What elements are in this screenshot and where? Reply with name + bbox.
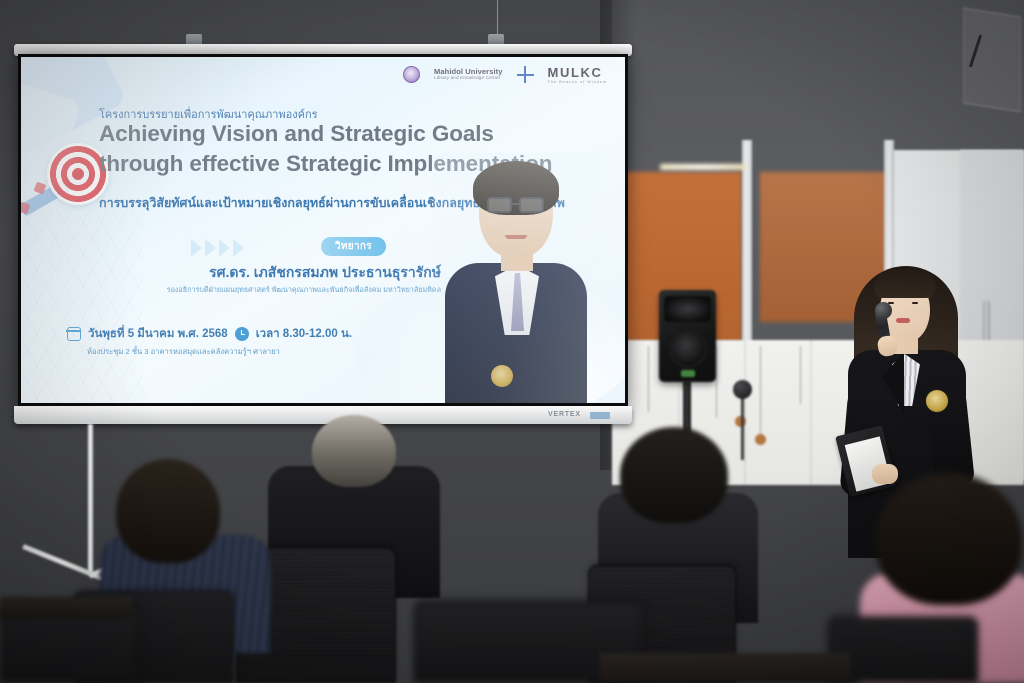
chevron-right-icon — [191, 239, 202, 257]
slide-title-en-line1: Achieving Vision and Strategic Goals — [99, 119, 609, 149]
desk-right — [600, 653, 850, 683]
chevron-decor — [191, 239, 244, 257]
hanging-dot-1 — [755, 434, 766, 445]
chevron-right-icon — [219, 239, 230, 257]
screen-brand-tag — [590, 412, 610, 419]
slide-time: เวลา 8.30-12.00 น. — [256, 325, 352, 343]
mulkc-tagline: The Beacon of Wisdom — [548, 80, 607, 84]
chevron-right-icon — [233, 239, 244, 257]
projection-screen: Mahidol University Library and Knowledge… — [18, 54, 628, 406]
slide-hex-pattern — [23, 207, 143, 403]
speaker-badge: วิทยากร — [321, 237, 386, 256]
calendar-icon — [67, 327, 81, 341]
screen-brand-label: VERTEX — [548, 411, 581, 418]
audience-head-mid-right — [620, 427, 728, 523]
hanging-line-3 — [716, 346, 717, 418]
mulkc-logo: MULKC The Beacon of Wisdom — [548, 66, 607, 84]
slide-date: วันพุธที่ 5 มีนาคม พ.ศ. 2568 — [88, 325, 228, 343]
mahidol-logo-text: Mahidol University Library and Knowledge… — [434, 68, 502, 81]
ceiling-light-strip — [660, 164, 746, 170]
screen-hanging-wire — [497, 0, 498, 36]
mahidol-subname: Library and Knowledge Center — [434, 76, 502, 81]
slide-surface: Mahidol University Library and Knowledge… — [21, 57, 625, 403]
audience-head-front-right — [876, 473, 1022, 605]
chevron-right-icon — [205, 239, 216, 257]
blazer-emblem-icon — [926, 390, 948, 412]
clock-icon — [235, 327, 249, 341]
chair-front-right — [828, 617, 978, 683]
pa-speaker-icon — [659, 290, 716, 382]
audience-head-center — [312, 415, 396, 487]
mulkc-wordmark: MULKC — [548, 66, 607, 80]
screen-bottom-bar — [14, 406, 632, 424]
slide-venue: ห้องประชุม 2 ชั้น 3 อาคารหอสมุดและคลังคว… — [87, 346, 280, 358]
desk-left — [0, 597, 132, 619]
mic-stand — [741, 392, 744, 460]
slide-speaker-name: รศ.ดร. เภสัชกรสมภพ ประธานธุรารักษ์ — [81, 262, 441, 284]
hanging-line-1 — [648, 346, 649, 412]
hanging-line-5 — [800, 346, 801, 404]
audience-head-mid-left — [116, 459, 220, 563]
audience-seating — [0, 453, 1024, 683]
slide-datetime-row: วันพุธที่ 5 มีนาคม พ.ศ. 2568 เวลา 8.30-1… — [67, 325, 352, 343]
hanging-line-4 — [760, 346, 761, 436]
spark-icon — [517, 66, 534, 83]
mic-on-stand-icon — [733, 380, 752, 399]
slide-logo-row: Mahidol University Library and Knowledge… — [403, 66, 607, 84]
lecture-room-photo: Mahidol University Library and Knowledge… — [0, 0, 1024, 683]
speaker-portrait-photo — [433, 153, 601, 403]
mahidol-seal-icon — [403, 66, 420, 83]
slide-speaker-affiliation: รองอธิการบดีฝ่ายแผนยุทธศาสตร์ พัฒนาคุณภา… — [61, 285, 441, 296]
